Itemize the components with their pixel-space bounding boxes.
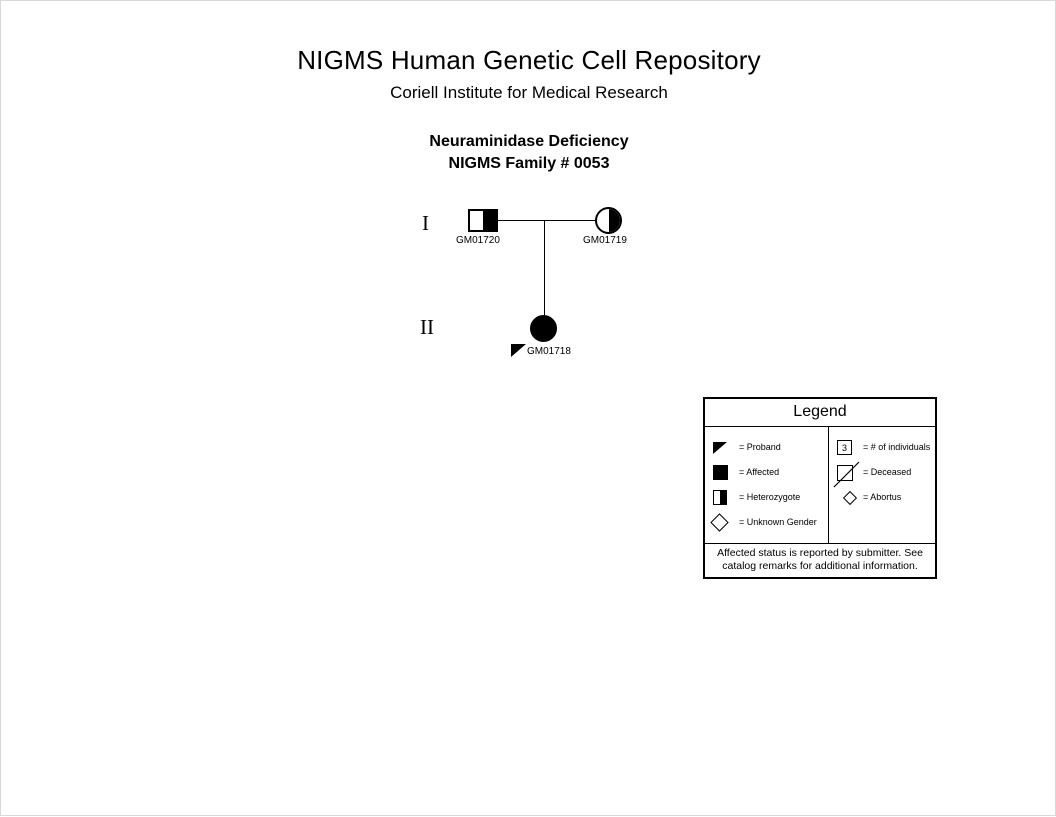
heterozygote-fill: [483, 211, 496, 230]
legend-item-label: = Heterozygote: [739, 492, 800, 503]
half-filled-square-icon: [713, 487, 739, 509]
proband-arrow-icon: [511, 344, 526, 357]
legend-item-label: = Unknown Gender: [739, 517, 817, 528]
legend-column-right: 3 = # of individuals = Deceased: [829, 427, 935, 543]
legend-item-label: = Affected: [739, 467, 779, 478]
numbered-square-icon: 3: [837, 437, 863, 459]
individual-symbol-GM01718[interactable]: [530, 315, 557, 342]
legend-item-label: = # of individuals: [863, 442, 930, 453]
legend-item-label: = Abortus: [863, 492, 901, 503]
heterozygote-fill: [609, 209, 621, 232]
legend-body: = Proband = Affected = Heterozygote: [705, 427, 935, 544]
individual-symbol-GM01719[interactable]: [595, 207, 622, 234]
legend-item-affected: = Affected: [713, 460, 822, 485]
slashed-square-icon: [837, 462, 863, 484]
proband-arrow-icon: [713, 437, 739, 459]
individual-symbol-GM01720[interactable]: [468, 209, 498, 232]
diamond-icon: [713, 512, 739, 534]
legend-item-label: = Deceased: [863, 467, 911, 478]
legend: Legend = Proband = Affected: [703, 397, 937, 579]
generation-label-1: I: [422, 213, 429, 234]
legend-item-proband: = Proband: [713, 435, 822, 460]
legend-item-count: 3 = # of individuals: [837, 435, 929, 460]
individual-id-GM01719: GM01719: [583, 235, 627, 247]
legend-item-abortus: = Abortus: [837, 485, 929, 510]
legend-item-unknown-gender: = Unknown Gender: [713, 510, 822, 535]
legend-item-heterozygote: = Heterozygote: [713, 485, 822, 510]
legend-note: Affected status is reported by submitter…: [705, 544, 935, 577]
small-diamond-icon: [837, 487, 863, 509]
legend-title: Legend: [705, 399, 935, 427]
pedigree-page: NIGMS Human Genetic Cell Repository Cori…: [0, 0, 1056, 816]
mating-line: [498, 220, 596, 221]
generation-label-2: II: [420, 317, 434, 338]
count-value: 3: [837, 440, 852, 455]
legend-column-left: = Proband = Affected = Heterozygote: [705, 427, 829, 543]
individual-id-GM01718: GM01718: [527, 346, 571, 358]
legend-item-label: = Proband: [739, 442, 781, 453]
individual-id-GM01720: GM01720: [456, 235, 500, 247]
descent-line: [544, 220, 545, 320]
filled-square-icon: [713, 462, 739, 484]
legend-item-deceased: = Deceased: [837, 460, 929, 485]
